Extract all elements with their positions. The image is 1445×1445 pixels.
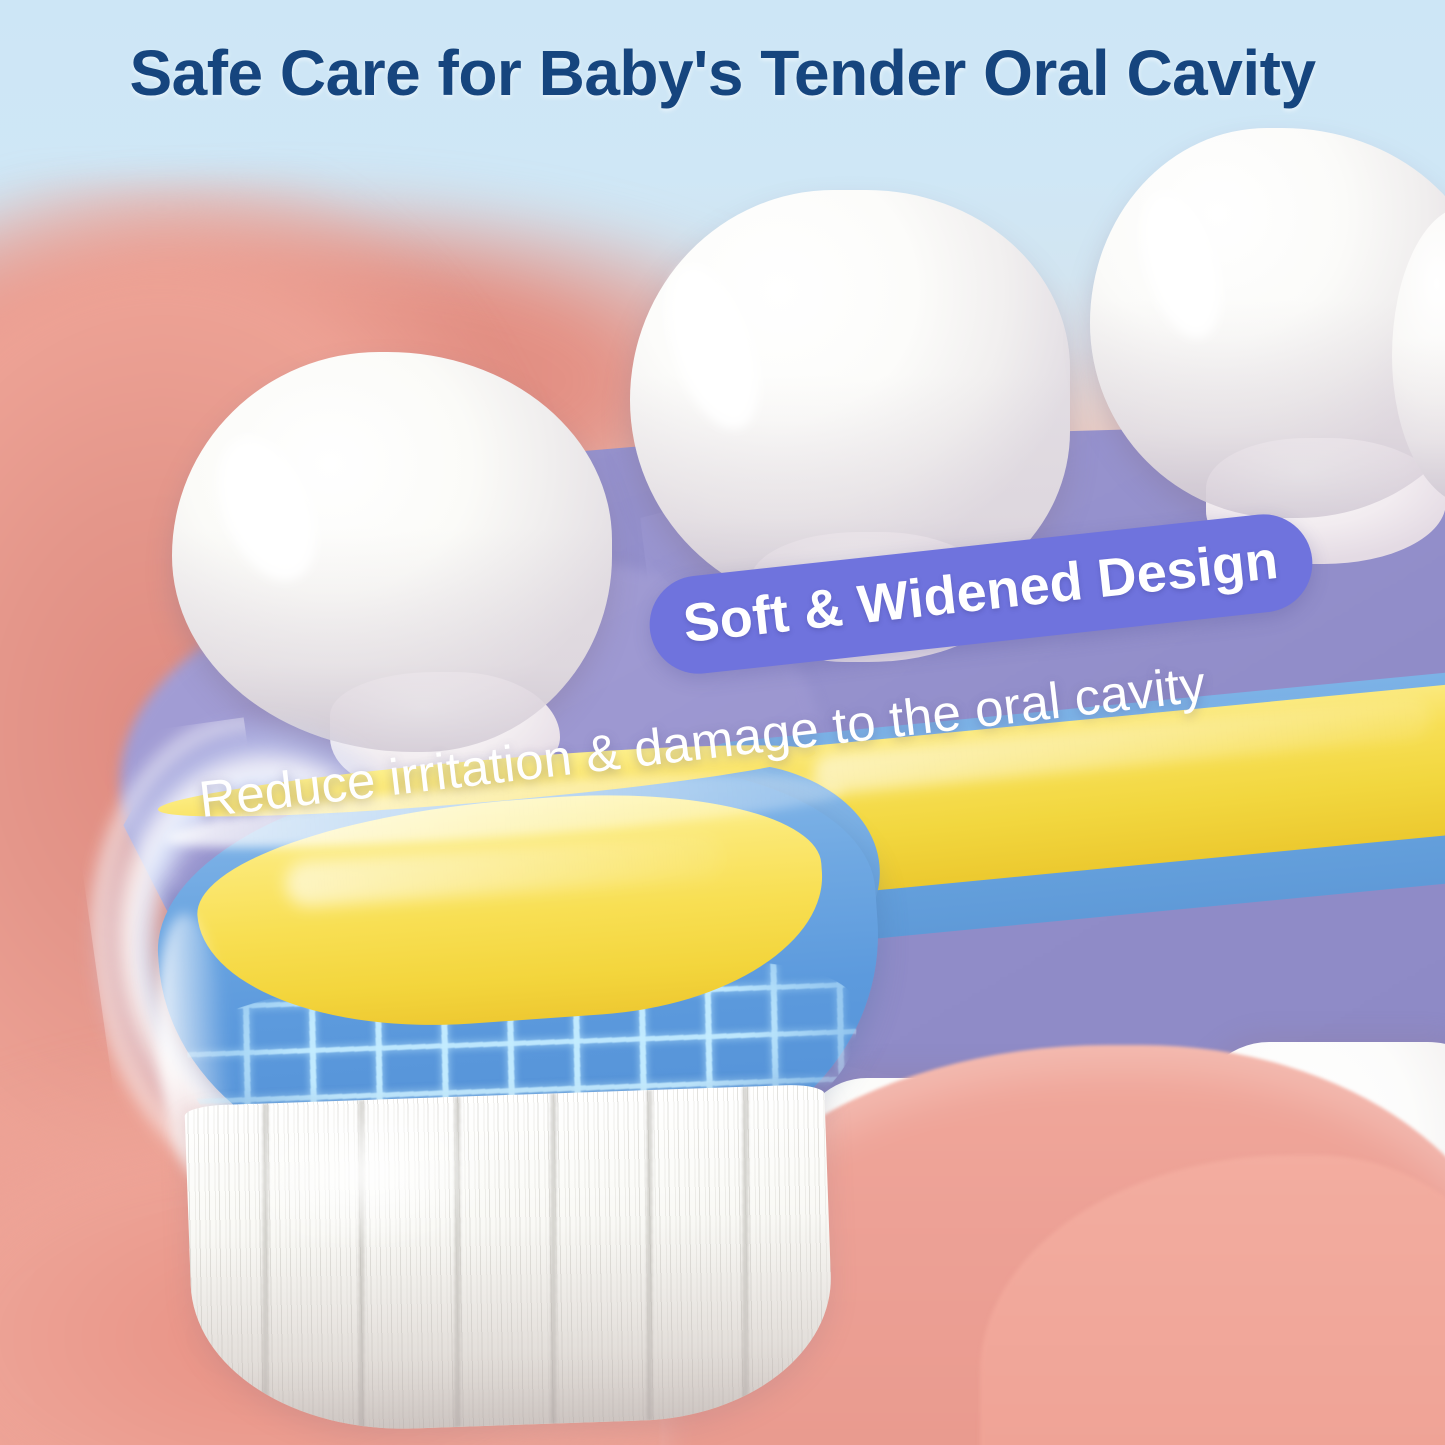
page-title: Safe Care for Baby's Tender Oral Cavity: [0, 36, 1445, 110]
product-marketing-image: Safe Care for Baby's Tender Oral Cavity …: [0, 0, 1445, 1445]
